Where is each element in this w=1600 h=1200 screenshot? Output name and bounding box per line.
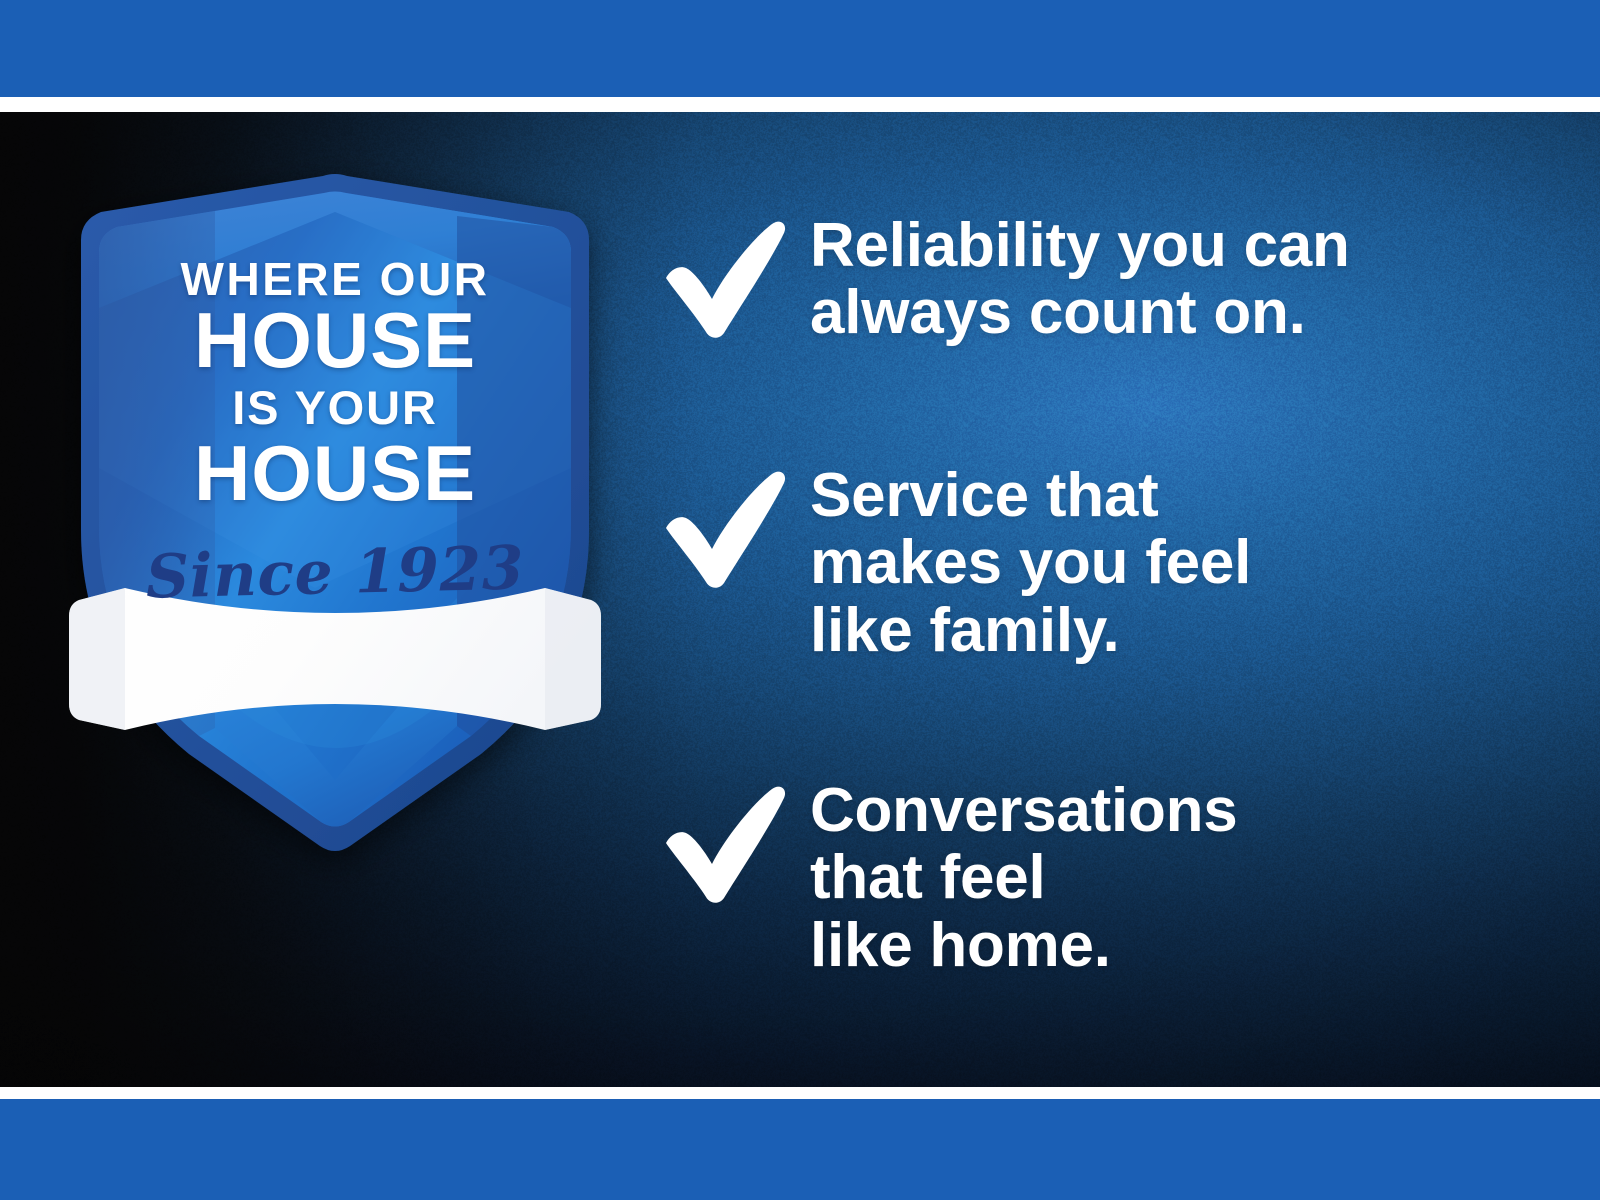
top-white-divider (0, 97, 1600, 112)
benefits-list: Reliability you can always count on. Ser… (660, 112, 1540, 1087)
list-item: Reliability you can always count on. (660, 212, 1540, 347)
ribbon-right-fold (545, 588, 601, 730)
shield-badge: WHERE OUR HOUSE IS YOUR HOUSE Since 1923 (65, 168, 605, 818)
list-item-line: always count on. (810, 279, 1540, 346)
list-item-line: like family. (810, 597, 1540, 664)
list-item-line: makes you feel (810, 529, 1540, 596)
bottom-brand-bar (0, 1099, 1600, 1200)
list-item-line: Service that (810, 462, 1540, 529)
list-item-text: Conversations that feel like home. (810, 777, 1540, 979)
checkmark-icon (660, 220, 788, 338)
list-item: Conversations that feel like home. (660, 777, 1540, 979)
checkmark-icon (660, 785, 788, 903)
list-item-line: Conversations (810, 777, 1540, 844)
top-brand-bar (0, 0, 1600, 97)
checkmark-icon (660, 470, 788, 588)
bottom-white-divider (0, 1087, 1600, 1099)
list-item-line: like home. (810, 912, 1540, 979)
list-item-line: Reliability you can (810, 212, 1540, 279)
shield-badge-icon (65, 168, 605, 818)
list-item-text: Reliability you can always count on. (810, 212, 1540, 347)
list-item-text: Service that makes you feel like family. (810, 462, 1540, 664)
ribbon-left-fold (69, 588, 125, 730)
list-item: Service that makes you feel like family. (660, 462, 1540, 664)
promo-banner: WHERE OUR HOUSE IS YOUR HOUSE Since 1923… (0, 0, 1600, 1200)
list-item-line: that feel (810, 844, 1540, 911)
